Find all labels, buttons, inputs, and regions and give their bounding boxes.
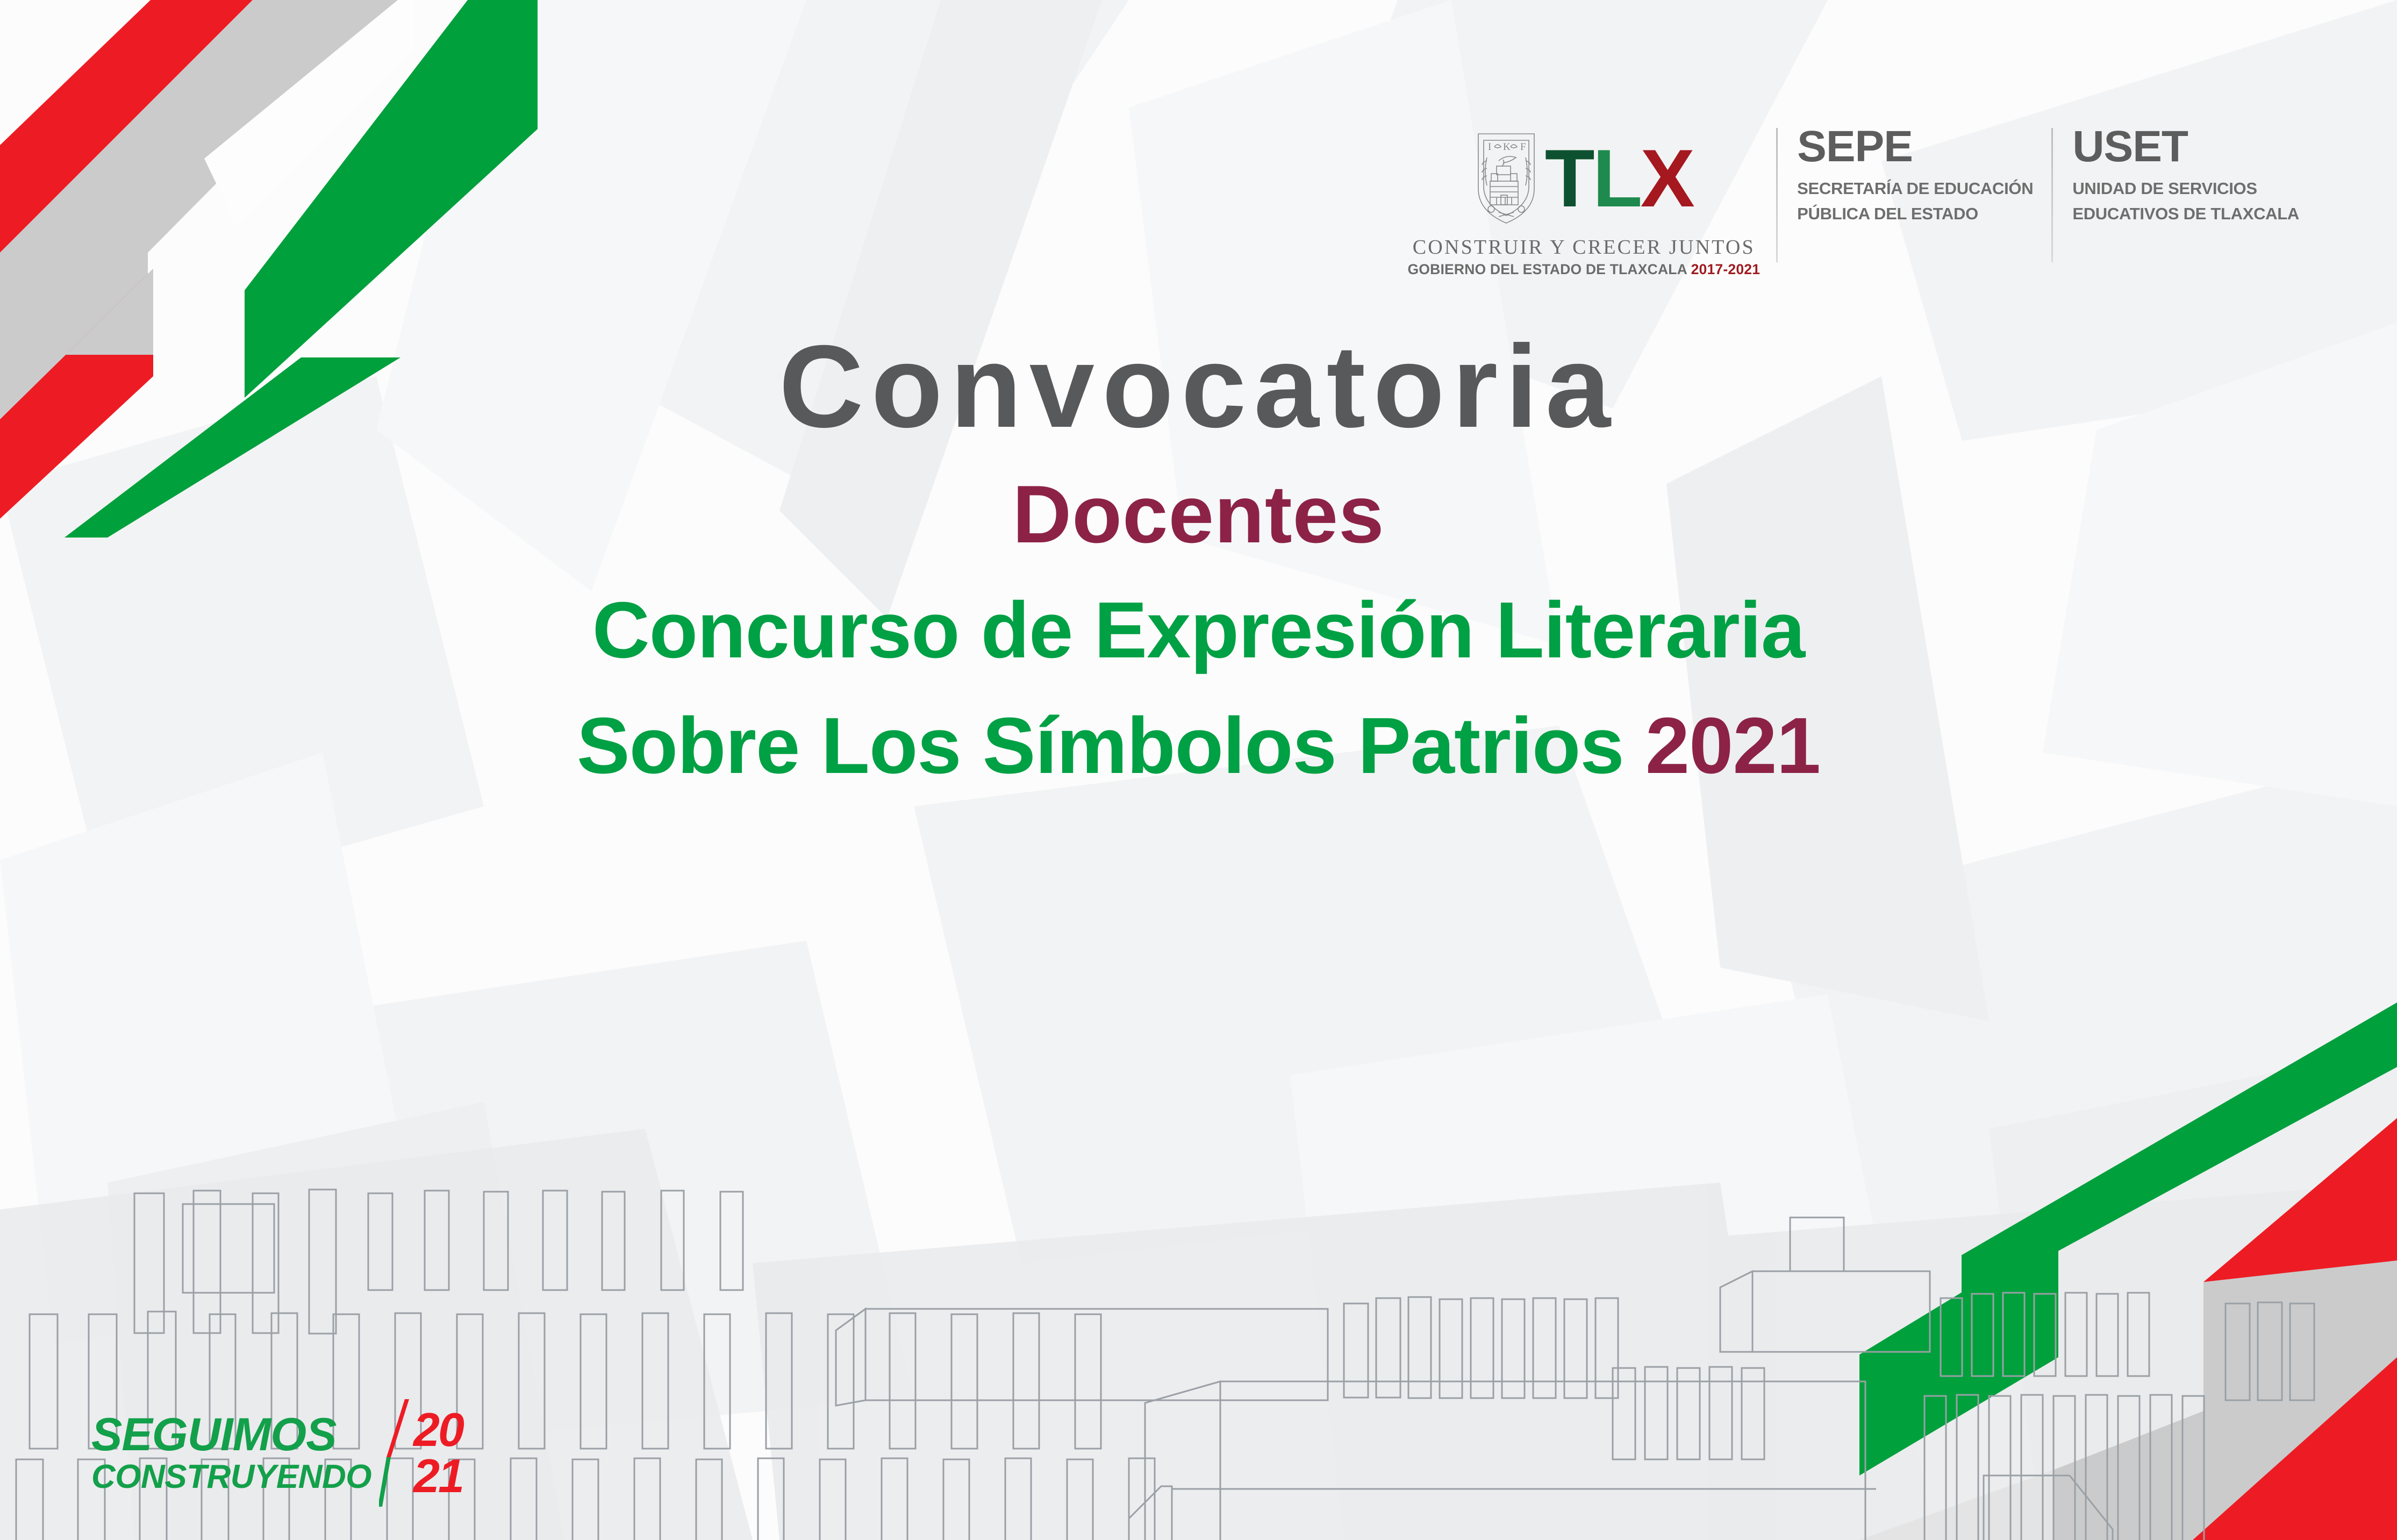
svg-text:I: I [1488,141,1491,153]
campaign-year: 20 21 [413,1407,463,1499]
ribbon-stripe-green-thin [1962,1002,2397,1303]
window-bar [661,1191,684,1290]
window-bar [602,1192,625,1290]
building-block [2097,1294,2118,1376]
uset-subtitle-line2: EDUCATIVOS DE TLAXCALA [2072,202,2299,227]
campaign-wordmark: SEGUIMOS CONSTRUYENDO [91,1412,371,1493]
building-edge [1984,1475,2070,1540]
window-bar [1067,1459,1093,1540]
headline-stack: Convocatoria Docentes Concurso de Expres… [0,323,2397,797]
building-block [1989,1396,2010,1540]
ribbon-bottom-right [1859,1002,2397,1540]
window-bar [1129,1458,1155,1540]
ground-line [1129,1486,1172,1540]
building-block [1502,1299,1525,1398]
ribbon-stripe-red-top [0,0,253,253]
building-block [1957,1395,1978,1540]
contest-line-2: Sobre Los Símbolos Patrios 2021 [0,695,2397,797]
building-block [2053,1396,2075,1540]
building-block [2183,1396,2204,1540]
window-bar [1645,1367,1668,1459]
building-block [1440,1299,1462,1398]
window-bar [194,1191,220,1333]
window-bar [253,1193,278,1333]
ribbon-notch-white [204,0,414,226]
window-bar [368,1193,392,1290]
building-block [2128,1293,2149,1376]
building-block [2258,1302,2282,1400]
building-wing [1720,1271,1752,1352]
sepe-logo: SEPE SECRETARÍA DE EDUCACIÓN PÚBLICA DEL… [1778,125,2051,226]
building-tower [1752,1271,1930,1352]
window-bar [704,1314,730,1449]
tlx-letter-x: X [1640,140,1692,217]
window-bar [1005,1458,1031,1540]
contest-line-2-text: Sobre Los Símbolos Patrios [577,701,1624,790]
uset-acronym: USET [2072,125,2299,169]
tlx-wordmark: TLX [1545,140,1693,217]
window-bar [573,1459,598,1540]
contest-line-1: Concurso de Expresión Literaria [0,579,2397,681]
svg-text:K: K [1503,141,1511,153]
building-block [1376,1298,1400,1398]
ribbon-stripe-gray [2053,1260,2397,1540]
building-block [1408,1297,1431,1398]
svg-text:F: F [1520,141,1526,153]
tlx-tagline-years: 2017-2021 [1691,261,1761,277]
campaign-year-top: 20 [413,1407,463,1453]
poster-canvas: I K F [0,0,2397,1540]
uset-logo: USET UNIDAD DE SERVICIOS EDUCATIVOS DE T… [2053,125,2317,226]
window-bar [309,1190,336,1334]
ribbon-stripe-gray-top [0,0,398,355]
window-bar [1742,1368,1764,1459]
building-block [2086,1395,2107,1540]
page-title: Convocatoria [0,323,2397,452]
building-block [1595,1298,1618,1398]
ribbon-band-lightgray [1859,1470,2053,1540]
ribbon-stripe-red-upper [2203,1118,2397,1411]
building-block [2150,1395,2172,1540]
uset-subtitle: UNIDAD DE SERVICIOS EDUCATIVOS DE TLAXCA… [2072,176,2299,226]
window-bar [543,1191,567,1290]
sepe-acronym: SEPE [1797,125,2033,169]
window-bar [1709,1367,1732,1459]
window-bar [820,1459,846,1540]
campaign-year-bottom: 21 [413,1453,463,1499]
building-block [2226,1303,2250,1400]
building-wing [836,1309,865,1406]
window-bar [951,1314,977,1449]
uset-subtitle-line1: UNIDAD DE SERVICIOS [2072,176,2299,202]
window-bar [1677,1368,1700,1459]
window-bar [882,1458,907,1540]
window-bar [134,1193,164,1333]
window-bar [484,1192,508,1290]
window-bar [1013,1313,1039,1449]
building-block [2065,1293,2087,1376]
window-bar [890,1313,915,1449]
window-bar [1613,1368,1635,1459]
window-bar [828,1314,854,1449]
tlx-tagline-gov: GOBIERNO DEL ESTADO DE TLAXCALA [1407,261,1687,277]
tlx-tagline-primary: CONSTRUIR Y CRECER JUNTOS [1407,235,1760,259]
window-bar [943,1459,969,1540]
window-bar [696,1459,722,1540]
building-block [2021,1395,2043,1540]
building-block [1564,1299,1587,1398]
building-wing [1145,1381,1220,1540]
building-block [1972,1294,1993,1376]
window-bar [581,1314,606,1449]
tlx-letter-l: L [1593,140,1641,217]
window-bar [30,1314,58,1449]
building-block [2290,1303,2314,1400]
building-block [1533,1298,1556,1398]
building-block [1471,1298,1493,1398]
building-block [1344,1303,1368,1398]
window-bar [183,1204,274,1293]
campaign-lockup: SEGUIMOS CONSTRUYENDO 20 21 [91,1399,463,1507]
tlx-taglines: CONSTRUIR Y CRECER JUNTOS GOBIERNO DEL E… [1407,235,1760,278]
building-block [2003,1293,2024,1376]
window-bar [16,1459,43,1540]
building-turret [1790,1217,1844,1271]
contest-year: 2021 [1645,701,1820,790]
ribbon-stripe-green-lower [1859,1234,2058,1475]
tlx-tagline-secondary: GOBIERNO DEL ESTADO DE TLAXCALA 2017-202… [1407,261,1760,278]
campaign-line-1: SEGUIMOS [91,1412,371,1457]
sepe-subtitle-line2: PÚBLICA DEL ESTADO [1797,202,2033,227]
campaign-line-2: CONSTRUYENDO [91,1461,371,1494]
building-block [2118,1396,2140,1540]
building-block [865,1309,1328,1400]
building-edge [2070,1475,2113,1540]
tlaxcala-coat-of-arms-icon: I K F [1475,131,1537,226]
window-bar [720,1192,743,1290]
institutional-logo-bar: I K F [1407,125,2317,281]
tricolor-slash-icon [379,1399,412,1507]
window-bar [766,1313,792,1449]
page-subtitle: Docentes [0,463,2397,565]
window-bar [425,1191,449,1290]
building-block [2034,1294,2056,1376]
sepe-subtitle: SECRETARÍA DE EDUCACIÓN PÚBLICA DEL ESTA… [1797,176,2033,226]
window-bar [1075,1314,1101,1449]
window-bar [642,1313,668,1449]
building-block [1941,1298,1962,1376]
window-bar [634,1458,660,1540]
sepe-subtitle-line1: SECRETARÍA DE EDUCACIÓN [1797,176,2033,202]
tlx-logo: I K F [1407,125,1776,278]
window-bar [758,1458,784,1540]
building-main [1220,1381,1865,1540]
ribbon-stripe-red-bottom [2193,1357,2397,1540]
building-block [1924,1396,1946,1540]
tlx-letter-t: T [1545,140,1593,217]
window-bar [511,1458,536,1540]
window-bar [519,1313,545,1449]
